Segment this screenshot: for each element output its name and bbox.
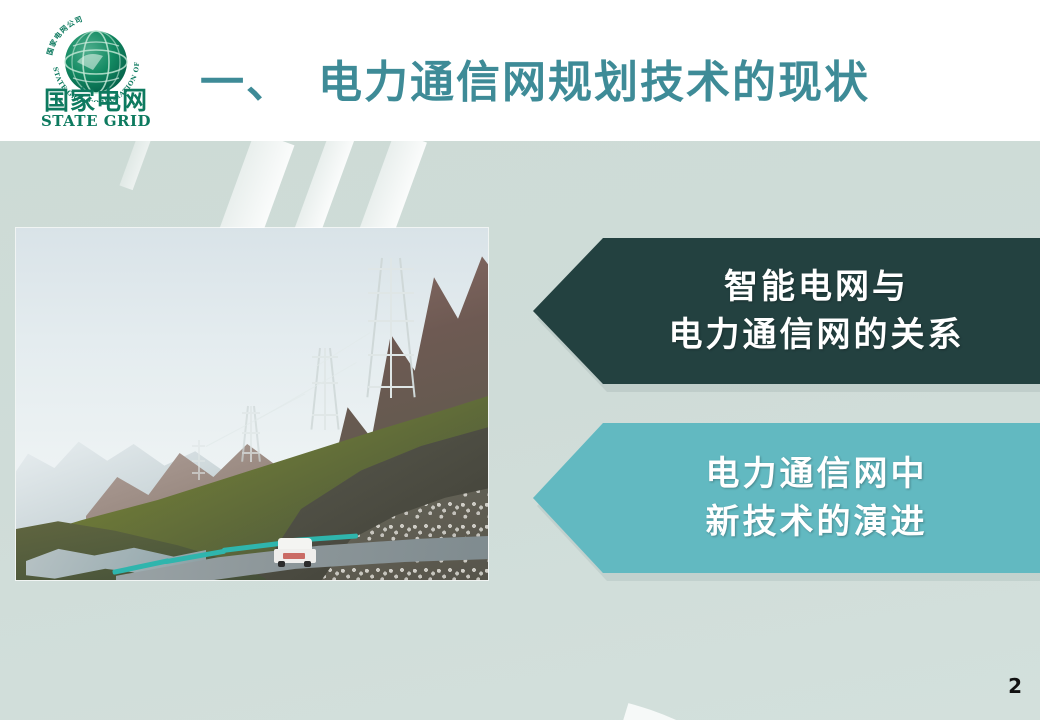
chevron-1-line-2: 电力通信网的关系 <box>609 311 965 359</box>
photo-pickup-truck <box>274 538 316 566</box>
chevron-2-line-2: 新技术的演进 <box>646 498 928 546</box>
page-number: 2 <box>1008 674 1022 698</box>
photo-transmission-tower-3 <box>242 406 260 462</box>
decorative-swoosh-arc-lower <box>57 574 955 720</box>
photo-guardrail <box>112 524 362 568</box>
mountain-power-line-photo <box>16 228 488 580</box>
photo-transmission-tower-main <box>368 258 414 398</box>
chevron-2-line-1: 电力通信网中 <box>646 450 928 498</box>
chevron-smart-grid-relation[interactable]: 智能电网与 电力通信网的关系 <box>533 238 1040 384</box>
slide-header: 国家电网公司 STATE GRID CORPORATION OF CHINA 国… <box>0 0 1040 141</box>
chevron-1-line-1: 智能电网与 <box>664 263 909 311</box>
slide-root: 国家电网公司 STATE GRID CORPORATION OF CHINA 国… <box>0 0 1040 720</box>
chevron-new-tech-evolution[interactable]: 电力通信网中 新技术的演进 <box>533 423 1040 573</box>
logo-chinese-name: 国家电网 <box>33 88 159 113</box>
page-title: 一、电力通信网规划技术的现状 <box>200 52 960 114</box>
page-title-number: 一、 <box>200 57 292 108</box>
logo-english-name: STATE GRID <box>33 114 159 129</box>
streak-4 <box>119 141 153 190</box>
page-title-text: 电力通信网规划技术的现状 <box>318 57 870 108</box>
photo-transmission-tower-4 <box>192 440 205 480</box>
